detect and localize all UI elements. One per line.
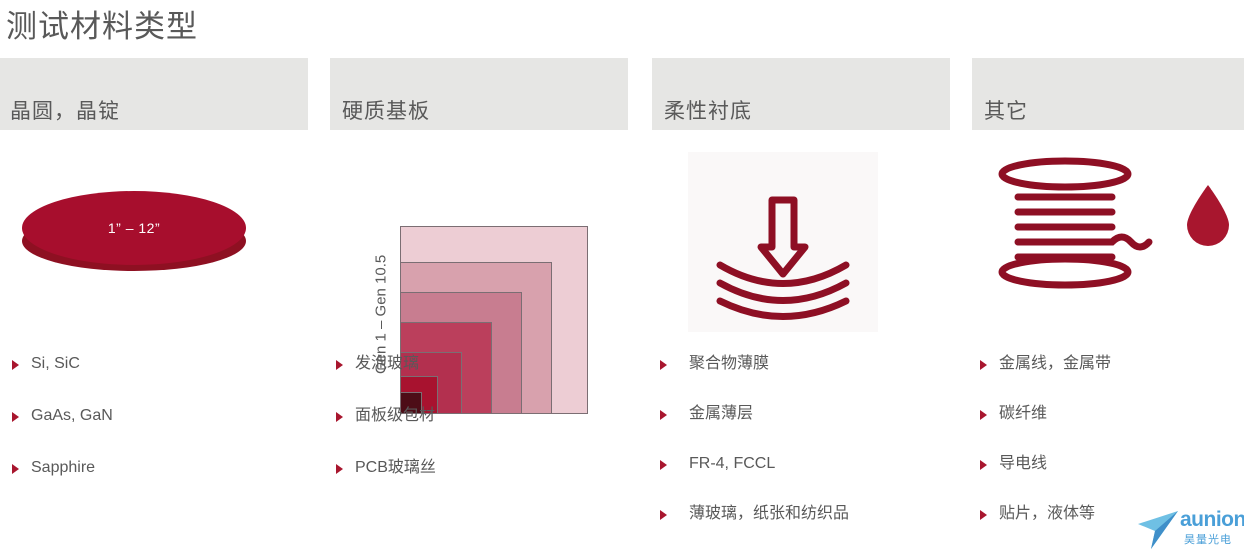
list-item-label: 金属线，金属带 — [999, 354, 1111, 374]
list-item: GaAs, GaN — [0, 406, 308, 426]
list-item-label: 面板级包材 — [355, 406, 435, 426]
list-item-label: PCB玻璃丝 — [355, 458, 436, 478]
triangle-bullet-icon — [980, 510, 987, 520]
column-other: 其它 金属线，金属带 — [972, 58, 1244, 554]
column-flexible-substrates: 柔性衬底 聚合物薄膜 金属薄层 — [652, 58, 950, 554]
column-header-other: 其它 — [972, 58, 1244, 130]
list-item: Si, SiC — [0, 354, 308, 374]
column-header-label: 硬质基板 — [342, 95, 430, 125]
list-item-label: 聚合物薄膜 — [689, 354, 769, 374]
list-item-label: 薄玻璃，纸张和纺织品 — [689, 504, 849, 524]
triangle-bullet-icon — [660, 460, 667, 470]
column-header-label: 晶圆，晶锭 — [10, 95, 120, 125]
page-title: 测试材料类型 — [6, 5, 198, 49]
list-item-label: FR-4, FCCL — [689, 454, 775, 474]
wafer-disc-icon: 1” – 12” — [10, 183, 258, 288]
list-item-label: 碳纤维 — [999, 404, 1047, 424]
list-item-label: Si, SiC — [31, 354, 80, 374]
column-rigid-substrates: 硬质基板 Gen 1 – Gen 10.5 发泡玻璃 面板级包材 — [330, 58, 628, 510]
wire-spool-icon — [984, 150, 1174, 300]
list-item: 发泡玻璃 — [330, 354, 628, 374]
column-header-flexible-substrates: 柔性衬底 — [652, 58, 950, 130]
list-item-label: 金属薄层 — [689, 404, 753, 424]
list-item-label: 发泡玻璃 — [355, 354, 419, 374]
list-item: PCB玻璃丝 — [330, 458, 628, 478]
logo-wordmark: aunion — [1180, 509, 1244, 530]
list-item-label: GaAs, GaN — [31, 406, 113, 426]
list-item-label: 贴片，液体等 — [999, 504, 1095, 524]
bullet-list-rigid-substrates: 发泡玻璃 面板级包材 PCB玻璃丝 — [330, 354, 628, 478]
bullet-list-wafers: Si, SiC GaAs, GaN Sapphire — [0, 354, 308, 478]
bullet-list-other: 金属线，金属带 碳纤维 导电线 贴片，液体等 — [972, 354, 1244, 524]
list-item: Sapphire — [0, 458, 308, 478]
triangle-bullet-icon — [336, 412, 343, 422]
list-item-label: 导电线 — [999, 454, 1047, 474]
triangle-bullet-icon — [336, 360, 343, 370]
aunion-arrow-icon — [1134, 507, 1182, 553]
triangle-bullet-icon — [660, 510, 667, 520]
triangle-bullet-icon — [660, 410, 667, 420]
list-item: 薄玻璃，纸张和纺织品 — [652, 504, 950, 524]
column-wafers: 晶圆，晶锭 1” – 12” Si, SiC GaAs, GaN Sapphir… — [0, 58, 308, 510]
column-header-wafers: 晶圆，晶锭 — [0, 58, 308, 130]
list-item: 碳纤维 — [972, 404, 1244, 424]
flex-arrow-waves-icon — [688, 152, 878, 332]
column-header-label: 其它 — [984, 95, 1028, 125]
triangle-bullet-icon — [336, 464, 343, 474]
slide-canvas: 测试材料类型 晶圆，晶锭 1” – 12” Si, SiC GaAs, GaN — [0, 0, 1244, 559]
wafer-size-label: 1” – 12” — [22, 191, 246, 265]
triangle-bullet-icon — [12, 464, 19, 474]
flexible-substrate-graphic — [652, 130, 950, 354]
list-item: FR-4, FCCL — [652, 454, 950, 474]
list-item: 导电线 — [972, 454, 1244, 474]
list-item: 金属线，金属带 — [972, 354, 1244, 374]
column-header-rigid-substrates: 硬质基板 — [330, 58, 628, 130]
bullet-list-flexible-substrates: 聚合物薄膜 金属薄层 FR-4, FCCL 薄玻璃，纸张和纺织品 — [652, 354, 950, 524]
glass-generation-graphic: Gen 1 – Gen 10.5 — [330, 130, 628, 354]
wafer-graphic: 1” – 12” — [0, 130, 308, 354]
list-item: 聚合物薄膜 — [652, 354, 950, 374]
other-materials-graphic — [972, 130, 1244, 354]
triangle-bullet-icon — [980, 460, 987, 470]
triangle-bullet-icon — [12, 412, 19, 422]
triangle-bullet-icon — [12, 360, 19, 370]
list-item: 面板级包材 — [330, 406, 628, 426]
list-item-label: Sapphire — [31, 458, 95, 478]
logo-subtitle: 昊量光电 — [1184, 531, 1232, 547]
list-item: 金属薄层 — [652, 404, 950, 424]
triangle-bullet-icon — [660, 360, 667, 370]
triangle-bullet-icon — [980, 360, 987, 370]
aunion-logo: aunion 昊量光电 — [1134, 503, 1240, 555]
droplet-icon — [1184, 183, 1232, 249]
triangle-bullet-icon — [980, 410, 987, 420]
column-header-label: 柔性衬底 — [664, 95, 752, 125]
